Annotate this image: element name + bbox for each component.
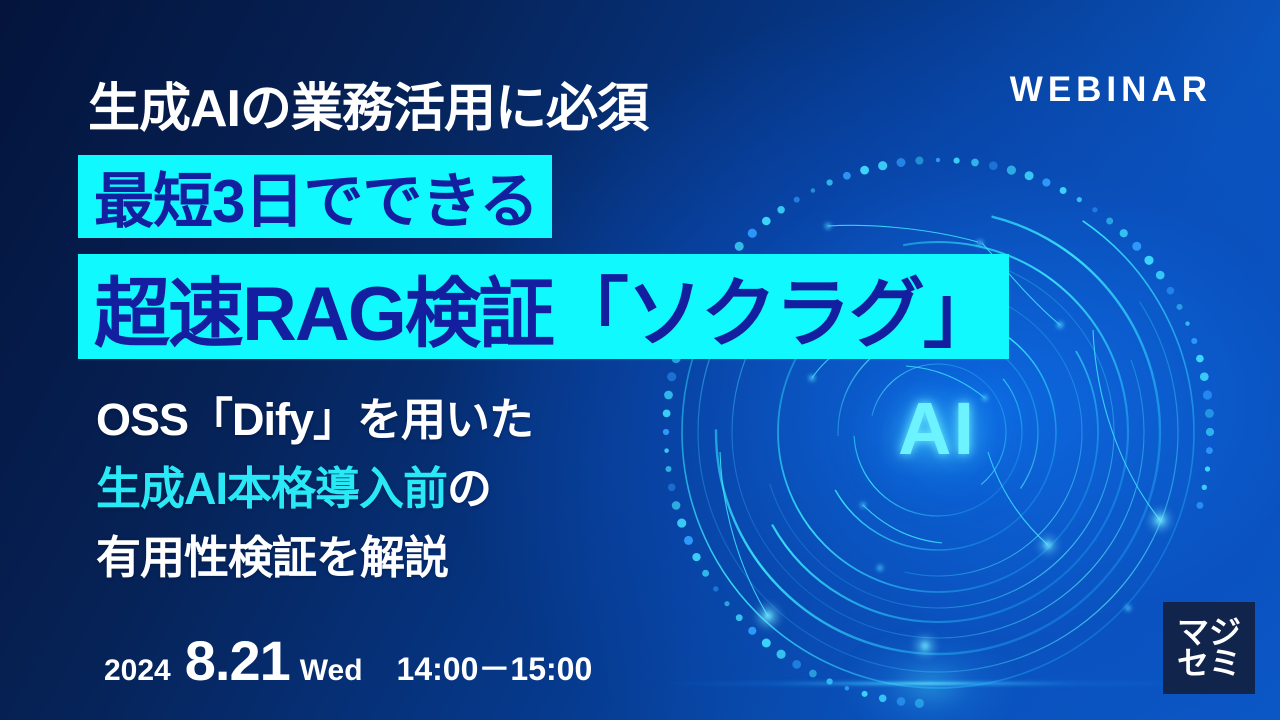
schedule-day: 8.21 (185, 628, 290, 693)
headline-band-2: 超速RAG検証「ソクラグ」 (78, 254, 1009, 359)
light-beam (645, 678, 1205, 689)
subtitle-line-1-part-b: を用いた (357, 394, 533, 445)
subtitle-line-1: OSS「Dify」を用いた (96, 383, 533, 448)
light-beam-glow (840, 630, 1020, 720)
subtitle-line-2: 生成AI本格導入前の (96, 452, 491, 517)
subtitle-line-2-part-b: の (447, 463, 491, 514)
webinar-banner: AI 生成AIの業務活用に必須 WEBINAR 最短3日でできる 超速RAG検証… (0, 0, 1280, 720)
subtitle-line-2-part-a: 生成AI本格導入前 (96, 463, 447, 514)
webinar-badge: WEBINAR (1010, 70, 1212, 110)
schedule-time: 14:00－15:00 (397, 644, 593, 690)
headline-kicker: 生成AIの業務活用に必須 (88, 66, 648, 141)
schedule-line: 2024 8.21 Wed 14:00－15:00 (104, 628, 592, 693)
subtitle-line-1-part-a: OSS「Dify」 (96, 394, 357, 445)
majisemi-logo: マジ セミ (1163, 602, 1255, 694)
subtitle-line-3-part-a: 有用性検証 (96, 532, 316, 583)
subtitle-line-3-part-b: を解説 (316, 532, 448, 583)
subtitle-line-3: 有用性検証を解説 (96, 521, 448, 586)
schedule-year: 2024 (104, 654, 171, 688)
logo-line-2: セミ (1177, 648, 1241, 679)
ai-core-label: AI (862, 386, 1012, 471)
schedule-weekday: Wed (300, 654, 363, 688)
headline-band-1: 最短3日でできる (78, 155, 552, 238)
